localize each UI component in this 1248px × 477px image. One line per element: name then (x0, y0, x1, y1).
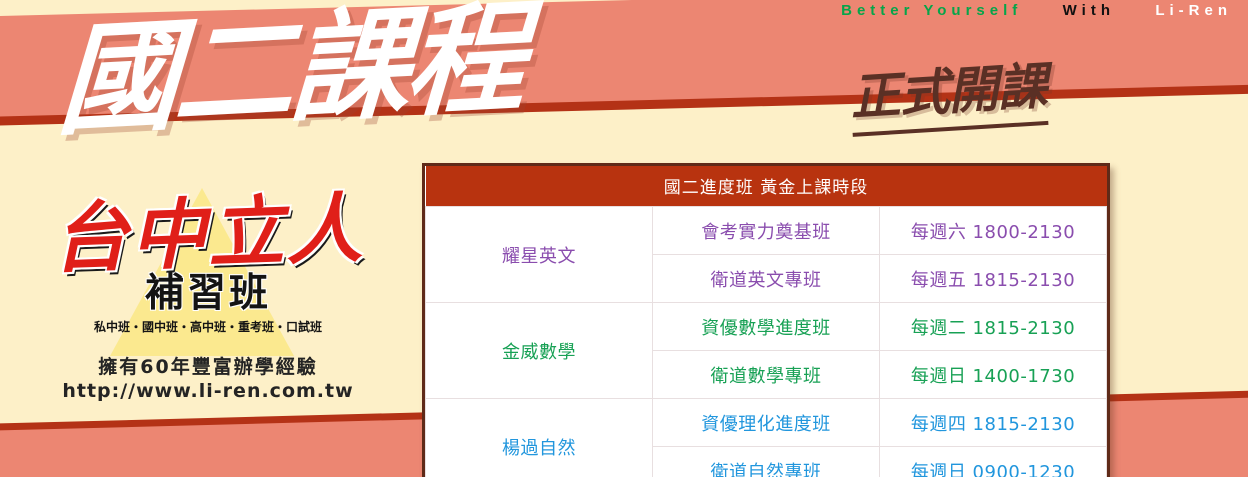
class-time-cell: 每週二 1815-2130 (880, 303, 1107, 351)
table-header-row: 國二進度班 黃金上課時段 (426, 166, 1107, 207)
class-time-cell: 每週六 1800-2130 (880, 207, 1107, 255)
course-name-cell: 資優理化進度班 (653, 399, 880, 447)
class-time-cell: 每週日 0900-1230 (880, 447, 1107, 477)
table-header-title: 國二進度班 黃金上課時段 (426, 166, 1107, 207)
table-row: 楊過自然資優理化進度班每週四 1815-2130 (426, 399, 1107, 447)
logo-class-list: 私中班・國中班・高中班・重考班・口試班 (18, 318, 398, 335)
schedule-table-body: 耀星英文會考實力奠基班每週六 1800-2130衛道英文專班每週五 1815-2… (426, 207, 1107, 477)
promo-banner: Better Yourself With Li-Ren 國二課程 正式開課 台中… (0, 0, 1248, 477)
subject-cell: 金威數學 (426, 303, 653, 399)
table-row: 金威數學資優數學進度班每週二 1815-2130 (426, 303, 1107, 351)
slogan-black: With (1063, 2, 1115, 19)
subject-cell: 楊過自然 (426, 399, 653, 477)
course-name-cell: 衛道數學專班 (653, 351, 880, 399)
schedule-table: 國二進度班 黃金上課時段 耀星英文會考實力奠基班每週六 1800-2130衛道英… (425, 166, 1107, 477)
class-time-cell: 每週四 1815-2130 (880, 399, 1107, 447)
course-name-cell: 衛道自然專班 (653, 447, 880, 477)
page-subtitle: 正式開課 (848, 46, 1048, 137)
course-name-cell: 資優數學進度班 (653, 303, 880, 351)
page-title: 國二課程 (55, 0, 525, 149)
logo-brand-name: 台中立人 (17, 189, 399, 278)
slogan-green: Better Yourself (841, 2, 1022, 19)
slogan-white: Li-Ren (1155, 2, 1232, 19)
logo-experience: 擁有60年豐富辦學經驗 (18, 352, 398, 379)
course-name-cell: 衛道英文專班 (653, 255, 880, 303)
schedule-table-container: 國二進度班 黃金上課時段 耀星英文會考實力奠基班每週六 1800-2130衛道英… (422, 163, 1110, 477)
class-time-cell: 每週五 1815-2130 (880, 255, 1107, 303)
table-row: 耀星英文會考實力奠基班每週六 1800-2130 (426, 207, 1107, 255)
class-time-cell: 每週日 1400-1730 (880, 351, 1107, 399)
subject-cell: 耀星英文 (426, 207, 653, 303)
slogan: Better Yourself With Li-Ren (0, 2, 1248, 19)
logo: 台中立人 補習班 私中班・國中班・高中班・重考班・口試班 擁有60年豐富辦學經驗… (18, 196, 398, 402)
course-name-cell: 會考實力奠基班 (653, 207, 880, 255)
logo-website-url[interactable]: http://www.li-ren.com.tw (18, 380, 398, 402)
